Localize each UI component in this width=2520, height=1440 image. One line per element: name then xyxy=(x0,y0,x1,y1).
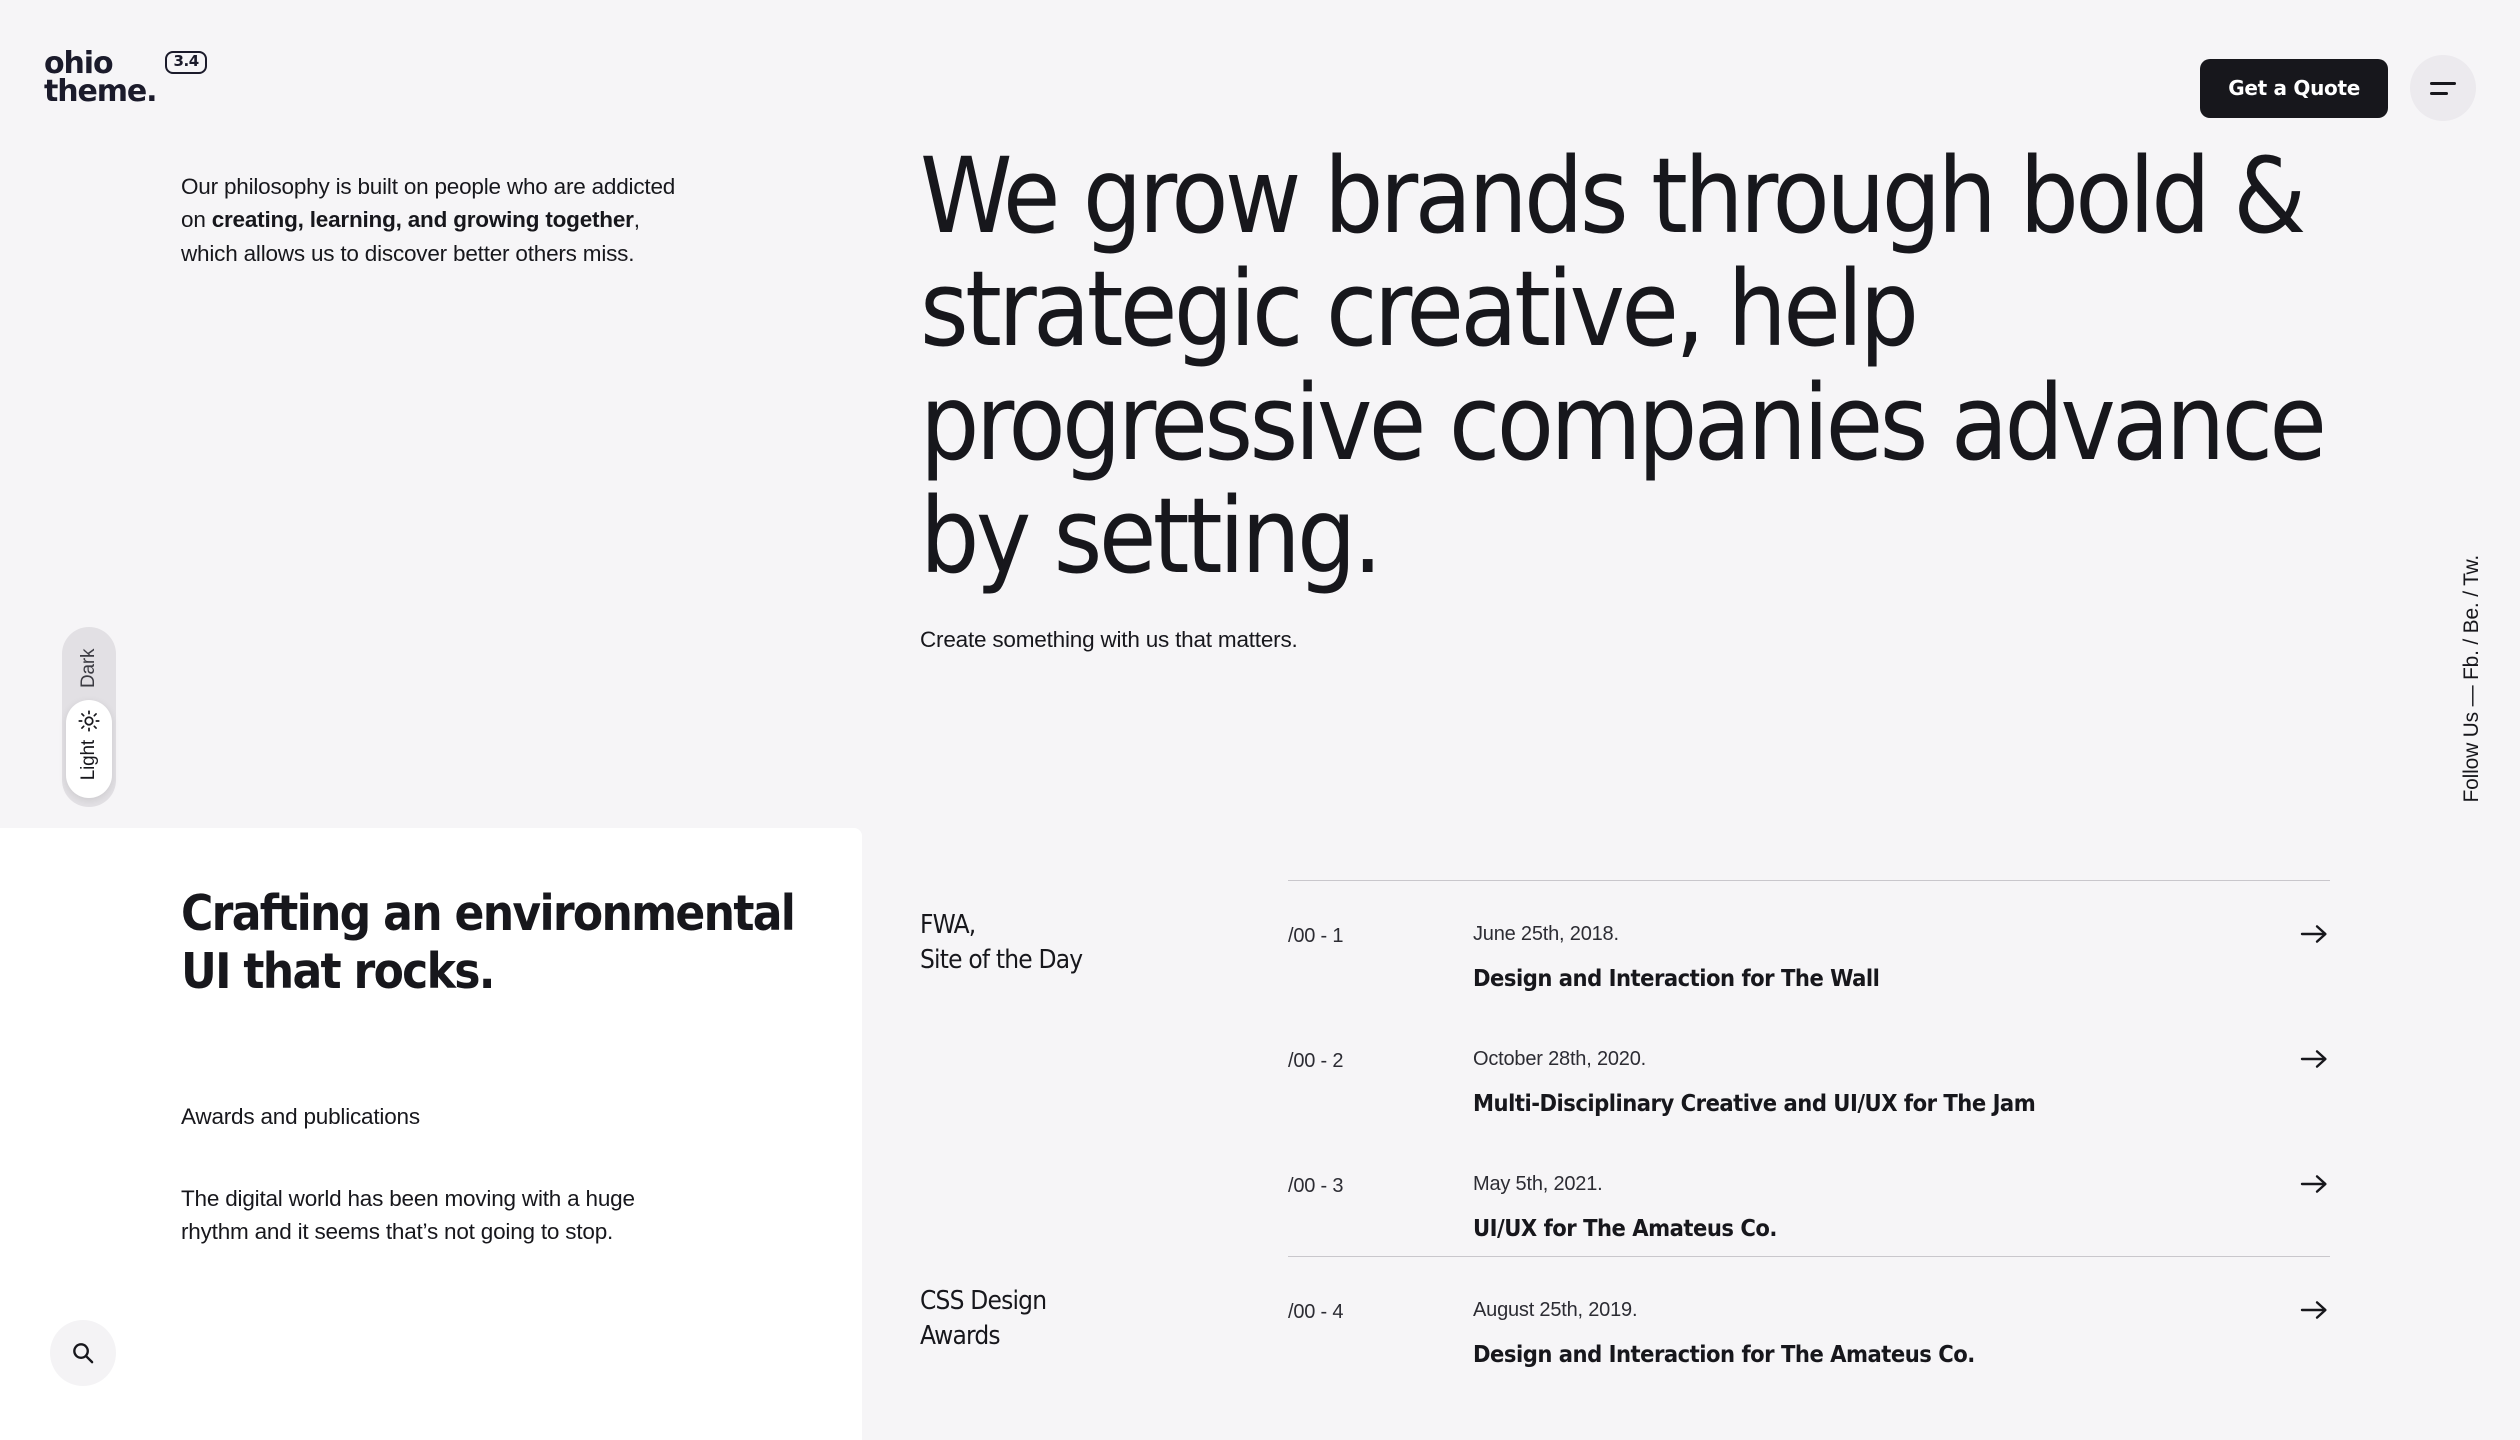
award-row-arrow-button[interactable] xyxy=(2260,1048,2330,1070)
award-group-label-line-2: Awards xyxy=(920,1319,1260,1354)
arrow-right-icon xyxy=(2300,1299,2330,1321)
search-icon[interactable] xyxy=(50,1320,116,1386)
award-row-arrow-button[interactable] xyxy=(2260,1173,2330,1195)
award-group-label-line-1: FWA, xyxy=(920,908,1260,943)
arrow-right-icon xyxy=(2300,1048,2330,1070)
panel-kicker: Awards and publications xyxy=(181,1104,420,1130)
award-row-date: May 5th, 2021. xyxy=(1473,1173,2260,1196)
award-row-number: /00 - 1 xyxy=(1288,923,1473,948)
page-root: ohio theme. 3.4 Get a Quote Our philosop… xyxy=(0,0,2520,1440)
award-group-label: CSS DesignAwards xyxy=(920,1284,1260,1353)
hero-headline: We grow brands through bold & strategic … xyxy=(920,140,2350,593)
panel-title: Crafting an environmental UI that rocks. xyxy=(181,885,821,1002)
award-group-label-line-1: CSS Design xyxy=(920,1284,1260,1319)
award-row[interactable]: /00 - 2October 28th, 2020.Multi-Discipli… xyxy=(1288,1006,2330,1131)
intro-text-bold: creating, learning, and growing together xyxy=(212,207,634,232)
award-row[interactable]: /00 - 4August 25th, 2019.Design and Inte… xyxy=(1288,1257,2330,1382)
award-row-main: May 5th, 2021.UI/UX for The Amateus Co. xyxy=(1473,1173,2260,1242)
theme-toggle[interactable]: Dark Light xyxy=(62,627,116,807)
version-badge: 3.4 xyxy=(165,51,206,74)
follow-us-label[interactable]: Follow Us — Fb. / Be. / Tw. xyxy=(2460,555,2484,802)
arrow-right-icon xyxy=(2300,923,2330,945)
award-row-title: Design and Interaction for The Amateus C… xyxy=(1473,1340,2260,1368)
award-row-arrow-button[interactable] xyxy=(2260,923,2330,945)
theme-toggle-light-option[interactable]: Light xyxy=(66,700,112,798)
search-glyph xyxy=(70,1340,96,1366)
award-group: CSS DesignAwards/00 - 4August 25th, 2019… xyxy=(920,1256,2330,1382)
site-header: ohio theme. 3.4 Get a Quote xyxy=(0,0,2520,150)
award-row-date: August 25th, 2019. xyxy=(1473,1299,2260,1322)
hamburger-line-2 xyxy=(2430,92,2448,95)
theme-toggle-dark-option[interactable]: Dark xyxy=(78,636,100,700)
logo[interactable]: ohio theme. 3.4 xyxy=(44,50,207,105)
award-row-title: Multi-Disciplinary Creative and UI/UX fo… xyxy=(1473,1089,2260,1117)
award-group-label-line-2: Site of the Day xyxy=(920,943,1260,978)
award-row-number: /00 - 4 xyxy=(1288,1299,1473,1324)
award-row-title: UI/UX for The Amateus Co. xyxy=(1473,1214,2260,1242)
award-row-title: Design and Interaction for The Wall xyxy=(1473,964,2260,992)
arrow-right-icon xyxy=(2300,1173,2330,1195)
award-group: FWA,Site of the Day/00 - 1June 25th, 201… xyxy=(920,880,2330,1256)
award-row-arrow-button[interactable] xyxy=(2260,1299,2330,1321)
award-row[interactable]: /00 - 3May 5th, 2021.UI/UX for The Amate… xyxy=(1288,1131,2330,1256)
award-group-label: FWA,Site of the Day xyxy=(920,908,1260,977)
award-row[interactable]: /00 - 1June 25th, 2018.Design and Intera… xyxy=(1288,881,2330,1006)
philosophy-paragraph: Our philosophy is built on people who ar… xyxy=(181,170,686,270)
hero-subtitle: Create something with us that matters. xyxy=(920,627,1298,653)
award-row-main: June 25th, 2018.Design and Interaction f… xyxy=(1473,923,2260,992)
award-row-date: October 28th, 2020. xyxy=(1473,1048,2260,1071)
award-row-number: /00 - 3 xyxy=(1288,1173,1473,1198)
award-row-main: October 28th, 2020.Multi-Disciplinary Cr… xyxy=(1473,1048,2260,1117)
panel-body-text: The digital world has been moving with a… xyxy=(181,1182,701,1249)
award-row-main: August 25th, 2019.Design and Interaction… xyxy=(1473,1299,2260,1368)
logo-line-2: theme. xyxy=(44,78,156,106)
theme-toggle-light-label: Light xyxy=(78,740,100,780)
awards-list: FWA,Site of the Day/00 - 1June 25th, 201… xyxy=(920,880,2330,1382)
sun-icon xyxy=(78,710,100,732)
award-row-date: June 25th, 2018. xyxy=(1473,923,2260,946)
award-row-number: /00 - 2 xyxy=(1288,1048,1473,1073)
get-a-quote-button[interactable]: Get a Quote xyxy=(2200,59,2388,118)
logo-wordmark: ohio theme. xyxy=(44,50,156,105)
hamburger-icon[interactable] xyxy=(2410,55,2476,121)
hamburger-line-1 xyxy=(2430,82,2456,85)
header-actions: Get a Quote xyxy=(2200,55,2476,121)
